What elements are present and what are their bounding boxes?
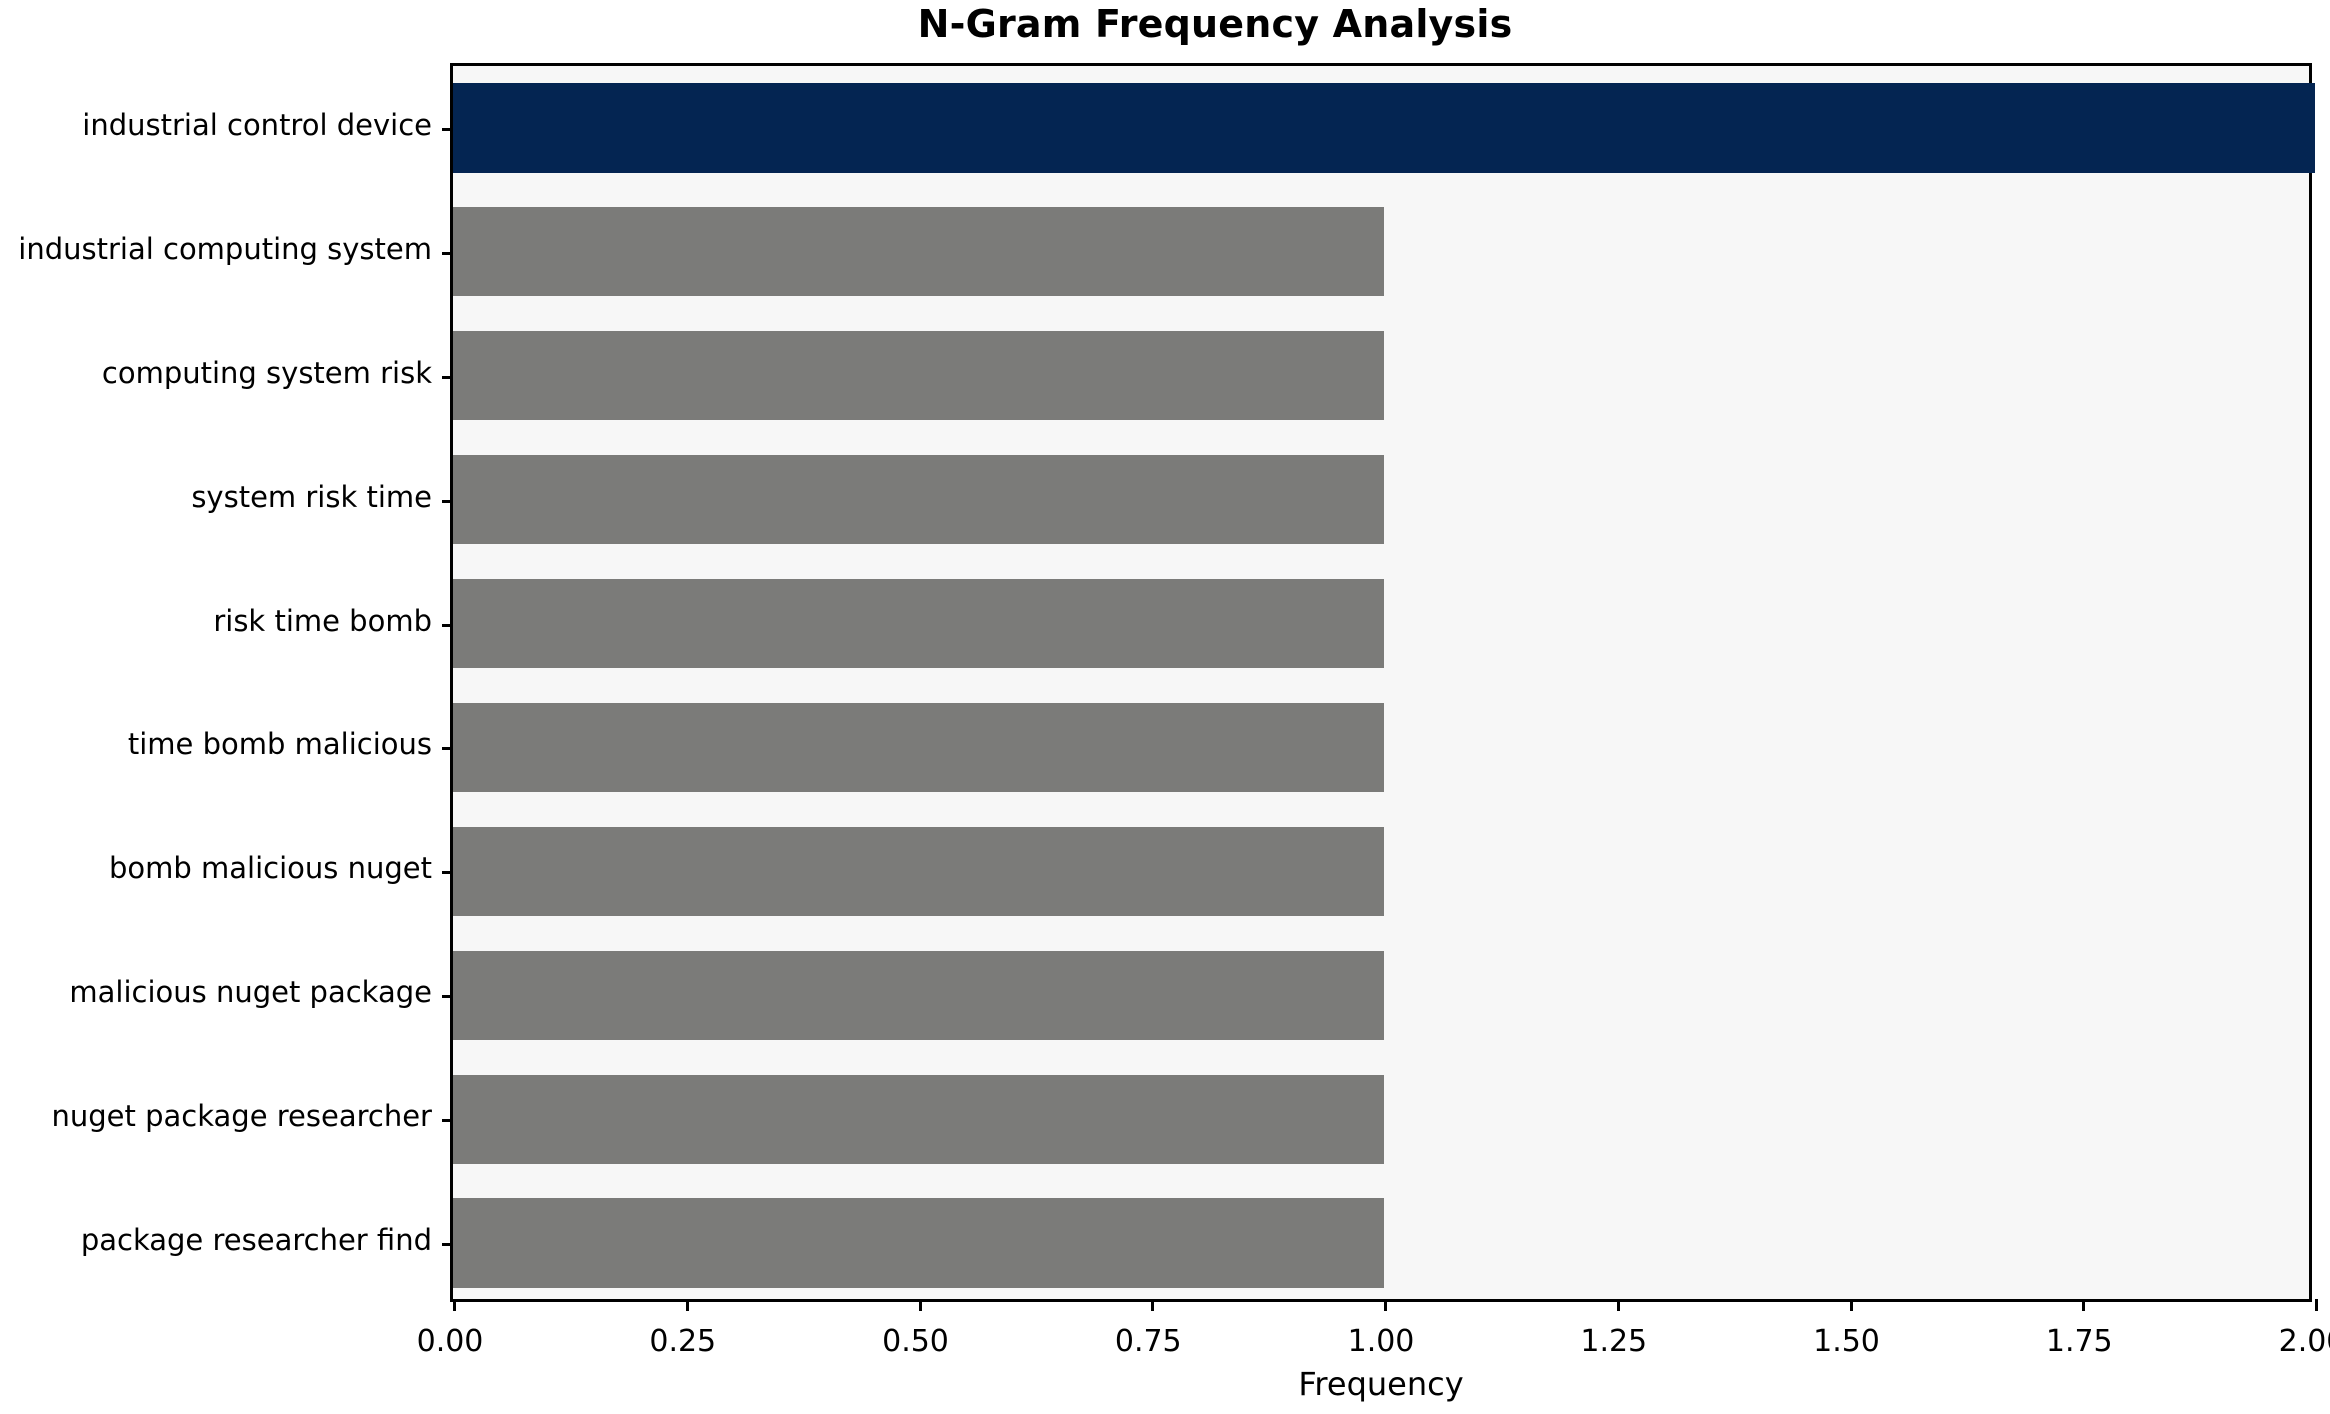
y-tick-label: industrial computing system [18, 232, 432, 266]
chart-title: N-Gram Frequency Analysis [0, 2, 2330, 46]
y-tick-mark [442, 624, 453, 627]
y-tick-label: malicious nuget package [69, 975, 432, 1009]
x-tick-label: 1.75 [2046, 1324, 2113, 1359]
x-tick-label: 0.75 [1115, 1324, 1182, 1359]
x-tick-label: 0.25 [649, 1324, 716, 1359]
y-tick-mark [442, 252, 453, 255]
x-tick-mark [1617, 1299, 1620, 1311]
plot-area [450, 63, 2312, 1302]
x-tick-mark [1850, 1299, 1853, 1311]
plot-inner [453, 66, 2309, 1299]
x-tick-mark [2082, 1299, 2085, 1311]
y-tick-label: bomb malicious nuget [109, 851, 432, 885]
y-tick-label: time bomb malicious [128, 727, 432, 761]
y-tick-mark [442, 128, 453, 131]
x-tick-mark [2315, 1299, 2318, 1311]
y-tick-label: industrial control device [82, 108, 432, 142]
y-tick-mark [442, 1243, 453, 1246]
bar [453, 951, 1384, 1040]
bar [453, 455, 1384, 544]
y-tick-mark [442, 871, 453, 874]
x-tick-mark [1384, 1299, 1387, 1311]
bar [453, 1075, 1384, 1164]
y-tick-mark [442, 995, 453, 998]
x-tick-label: 1.50 [1813, 1324, 1880, 1359]
x-tick-mark [686, 1299, 689, 1311]
bar [453, 827, 1384, 916]
y-tick-mark [442, 1119, 453, 1122]
x-tick-mark [1151, 1299, 1154, 1311]
y-tick-label: package researcher find [81, 1223, 432, 1257]
y-tick-mark [442, 376, 453, 379]
x-tick-label: 0.00 [417, 1324, 484, 1359]
y-tick-label: risk time bomb [213, 604, 432, 638]
x-tick-label: 1.00 [1348, 1324, 1415, 1359]
chart-title-text: N-Gram Frequency Analysis [918, 2, 1513, 46]
bar [453, 579, 1384, 668]
bar [453, 703, 1384, 792]
x-tick-mark [453, 1299, 456, 1311]
y-tick-label: nuget package researcher [52, 1099, 432, 1133]
x-tick-mark [919, 1299, 922, 1311]
x-tick-label: 1.25 [1580, 1324, 1647, 1359]
bar [453, 331, 1384, 420]
x-axis-label: Frequency [450, 1365, 2312, 1403]
x-tick-label: 2.00 [2279, 1324, 2330, 1359]
bar [453, 1198, 1384, 1287]
y-tick-mark [442, 747, 453, 750]
y-tick-mark [442, 500, 453, 503]
bar [453, 207, 1384, 296]
bar [453, 83, 2315, 172]
y-tick-label: computing system risk [102, 356, 432, 390]
y-tick-label: system risk time [191, 480, 432, 514]
figure-canvas: N-Gram Frequency Analysis industrial con… [0, 0, 2330, 1414]
x-tick-label: 0.50 [882, 1324, 949, 1359]
